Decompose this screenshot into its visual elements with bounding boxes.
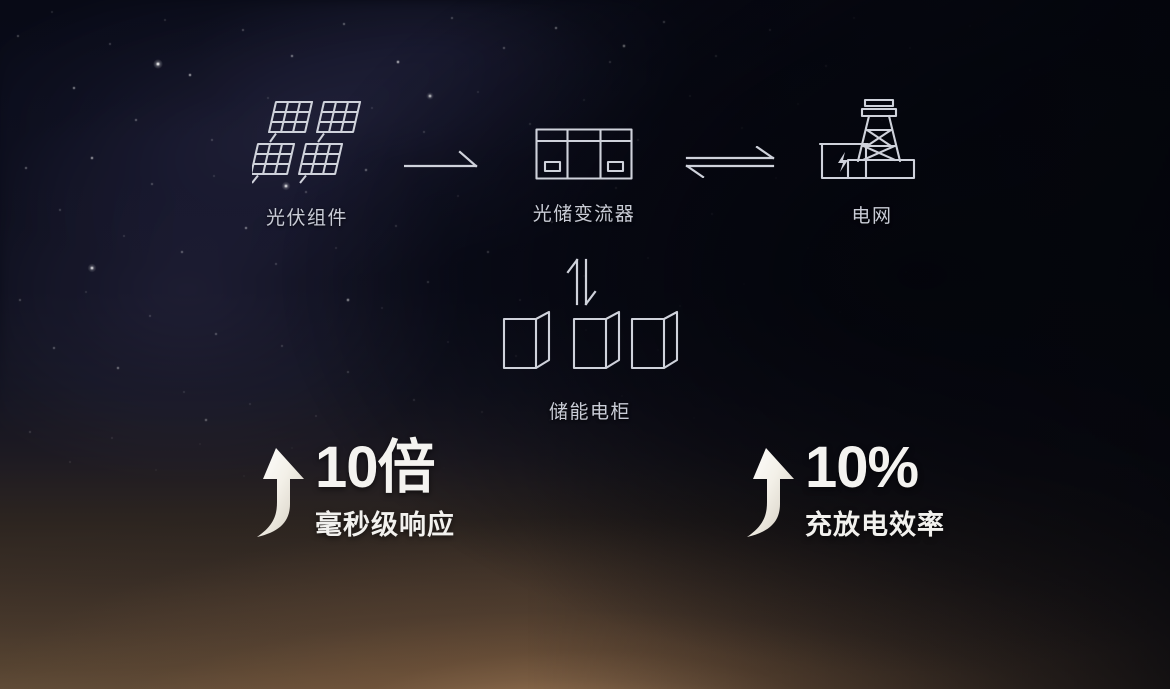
stat-efficiency-caption: 充放电效率 bbox=[805, 503, 945, 542]
diagram-node-pcs[interactable]: 光储变流器 bbox=[505, 128, 663, 226]
diagram-node-label-ess: 储能电柜 bbox=[549, 397, 631, 424]
stat-efficiency-text: 10% 充放电效率 bbox=[805, 440, 945, 542]
stat-response-text: 10倍 毫秒级响应 bbox=[315, 440, 455, 542]
system-diagram: 光伏组件 光储变流器 bbox=[0, 0, 1170, 689]
stats-row: 10倍 毫秒级响应 10% 充 bbox=[0, 440, 1170, 560]
slide-canvas: 光伏组件 光储变流器 bbox=[0, 0, 1170, 689]
battery-cabinet-icon bbox=[498, 310, 682, 375]
stat-response-value: 10倍 bbox=[315, 440, 455, 497]
arrow-left-right-icon bbox=[685, 146, 777, 183]
stat-efficiency[interactable]: 10% 充放电效率 bbox=[733, 440, 945, 543]
diagram-node-grid[interactable]: 电网 bbox=[793, 96, 951, 228]
stat-response-caption: 毫秒级响应 bbox=[315, 503, 455, 542]
arrow-right-icon bbox=[404, 148, 480, 179]
diagram-node-ess[interactable]: 储能电柜 bbox=[486, 310, 694, 424]
solar-panel-icon bbox=[252, 100, 362, 189]
stat-response[interactable]: 10倍 毫秒级响应 bbox=[243, 440, 455, 543]
power-grid-icon bbox=[812, 96, 932, 187]
stat-efficiency-value: 10% bbox=[805, 440, 945, 497]
diagram-node-pv[interactable]: 光伏组件 bbox=[228, 100, 386, 230]
diagram-node-label-pv: 光伏组件 bbox=[266, 203, 348, 230]
inverter-icon bbox=[535, 128, 633, 185]
diagram-node-label-grid: 电网 bbox=[851, 201, 892, 228]
up-arrow-icon bbox=[243, 446, 305, 543]
arrow-up-down-icon bbox=[566, 258, 598, 311]
diagram-node-label-pcs: 光储变流器 bbox=[533, 199, 636, 226]
up-arrow-icon bbox=[733, 446, 795, 543]
